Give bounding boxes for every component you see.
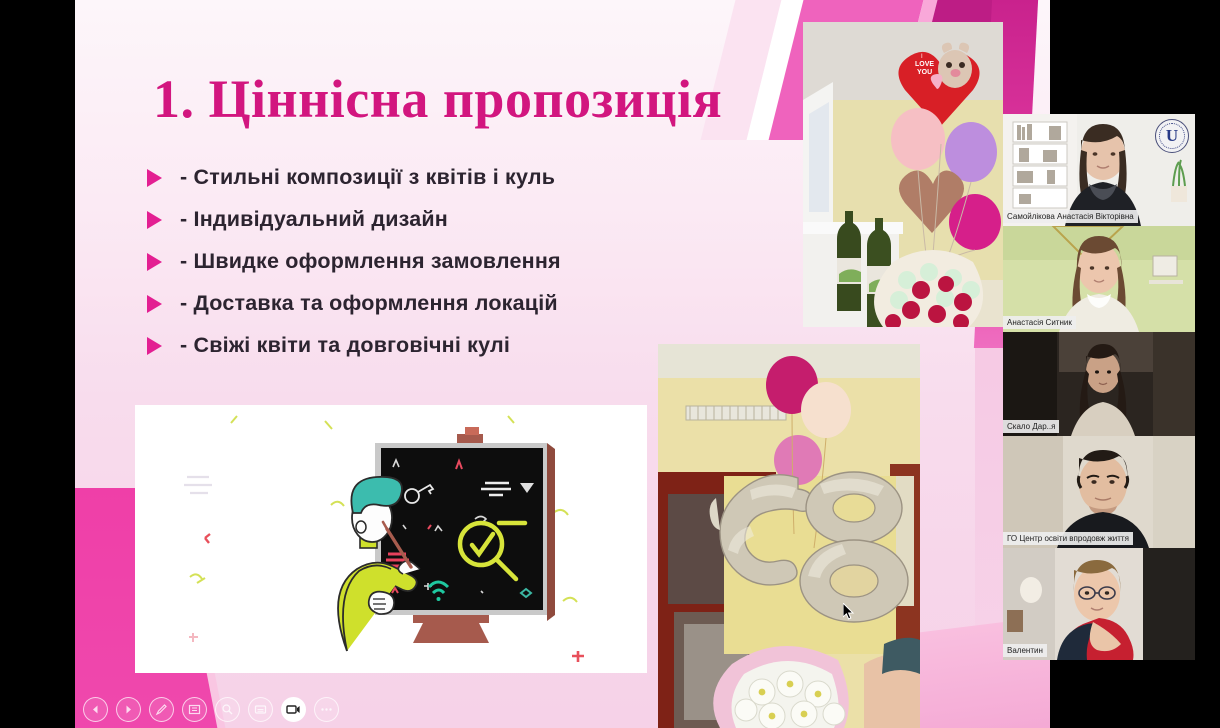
presenter-illustration-svg xyxy=(135,405,647,673)
bullet-text: - Доставка та оформлення локацій xyxy=(180,291,558,316)
participant-name: Самойлікова Анастасія Вікторівна xyxy=(1003,210,1138,223)
triangle-bullet-icon xyxy=(147,295,162,313)
participant-tile[interactable]: Скало Дар..я xyxy=(1003,332,1195,436)
bullet-text: - Стильні композиції з квітів і куль xyxy=(180,165,555,190)
participant-name: Скало Дар..я xyxy=(1003,420,1059,433)
pen-annotate-icon[interactable] xyxy=(149,697,174,722)
mouse-pointer xyxy=(843,603,855,621)
next-slide-icon[interactable] xyxy=(116,697,141,722)
triangle-bullet-icon xyxy=(147,211,162,229)
screen-share-view: 1. Ціннісна пропозиція - Стильні компози… xyxy=(0,0,1220,728)
triangle-bullet-icon xyxy=(147,253,162,271)
participant-tile[interactable]: Анастасія Ситник xyxy=(1003,226,1195,332)
bullet-text: - Свіжі квіти та довговічні кулі xyxy=(180,333,510,358)
presentation-toolbar[interactable] xyxy=(83,694,339,724)
speaker-notes-icon[interactable] xyxy=(248,697,273,722)
presentation-slide: 1. Ціннісна пропозиція - Стильні компози… xyxy=(75,0,1050,728)
list-item: - Індивідуальний дизайн xyxy=(147,207,847,232)
balloon-bouquet-photo: I LOVE YOU xyxy=(803,22,1003,327)
present-mode-icon[interactable] xyxy=(182,697,207,722)
participant-tile[interactable]: Самойлікова Анастасія Вікторівна xyxy=(1003,114,1195,226)
more-options-icon[interactable] xyxy=(314,697,339,722)
list-item: - Швидке оформлення замовлення xyxy=(147,249,847,274)
list-item: - Доставка та оформлення локацій xyxy=(147,291,847,316)
triangle-bullet-icon xyxy=(147,337,162,355)
participant-name: Анастасія Ситник xyxy=(1003,316,1076,329)
bullet-text: - Індивідуальний дизайн xyxy=(180,207,448,232)
participant-tile[interactable]: ГО Центр освіти впродовж життя xyxy=(1003,436,1195,548)
number-58-photo-svg xyxy=(658,344,920,728)
university-emblem-icon xyxy=(1155,119,1189,153)
zoom-search-icon[interactable] xyxy=(215,697,240,722)
list-item: - Стильні композиції з квітів і куль xyxy=(147,165,847,190)
previous-slide-icon[interactable] xyxy=(83,697,108,722)
svg-text:YOU: YOU xyxy=(917,69,932,76)
slide-title: 1. Ціннісна пропозиція xyxy=(153,68,722,130)
participant-name: Валентин xyxy=(1003,644,1047,657)
svg-text:LOVE: LOVE xyxy=(915,61,934,68)
balloon-bouquet-photo-svg: I LOVE YOU xyxy=(803,22,1003,327)
triangle-bullet-icon xyxy=(147,169,162,187)
participant-tile[interactable]: Валентин xyxy=(1003,548,1195,660)
participant-name: ГО Центр освіти впродовж життя xyxy=(1003,532,1133,545)
bullet-text: - Швидке оформлення замовлення xyxy=(180,249,561,274)
participants-panel: Самойлікова Анастасія Вікторівна Анастас… xyxy=(1003,114,1195,660)
number-58-balloons-photo xyxy=(658,344,920,728)
presenter-illustration xyxy=(135,405,647,673)
video-camera-icon[interactable] xyxy=(281,697,306,722)
